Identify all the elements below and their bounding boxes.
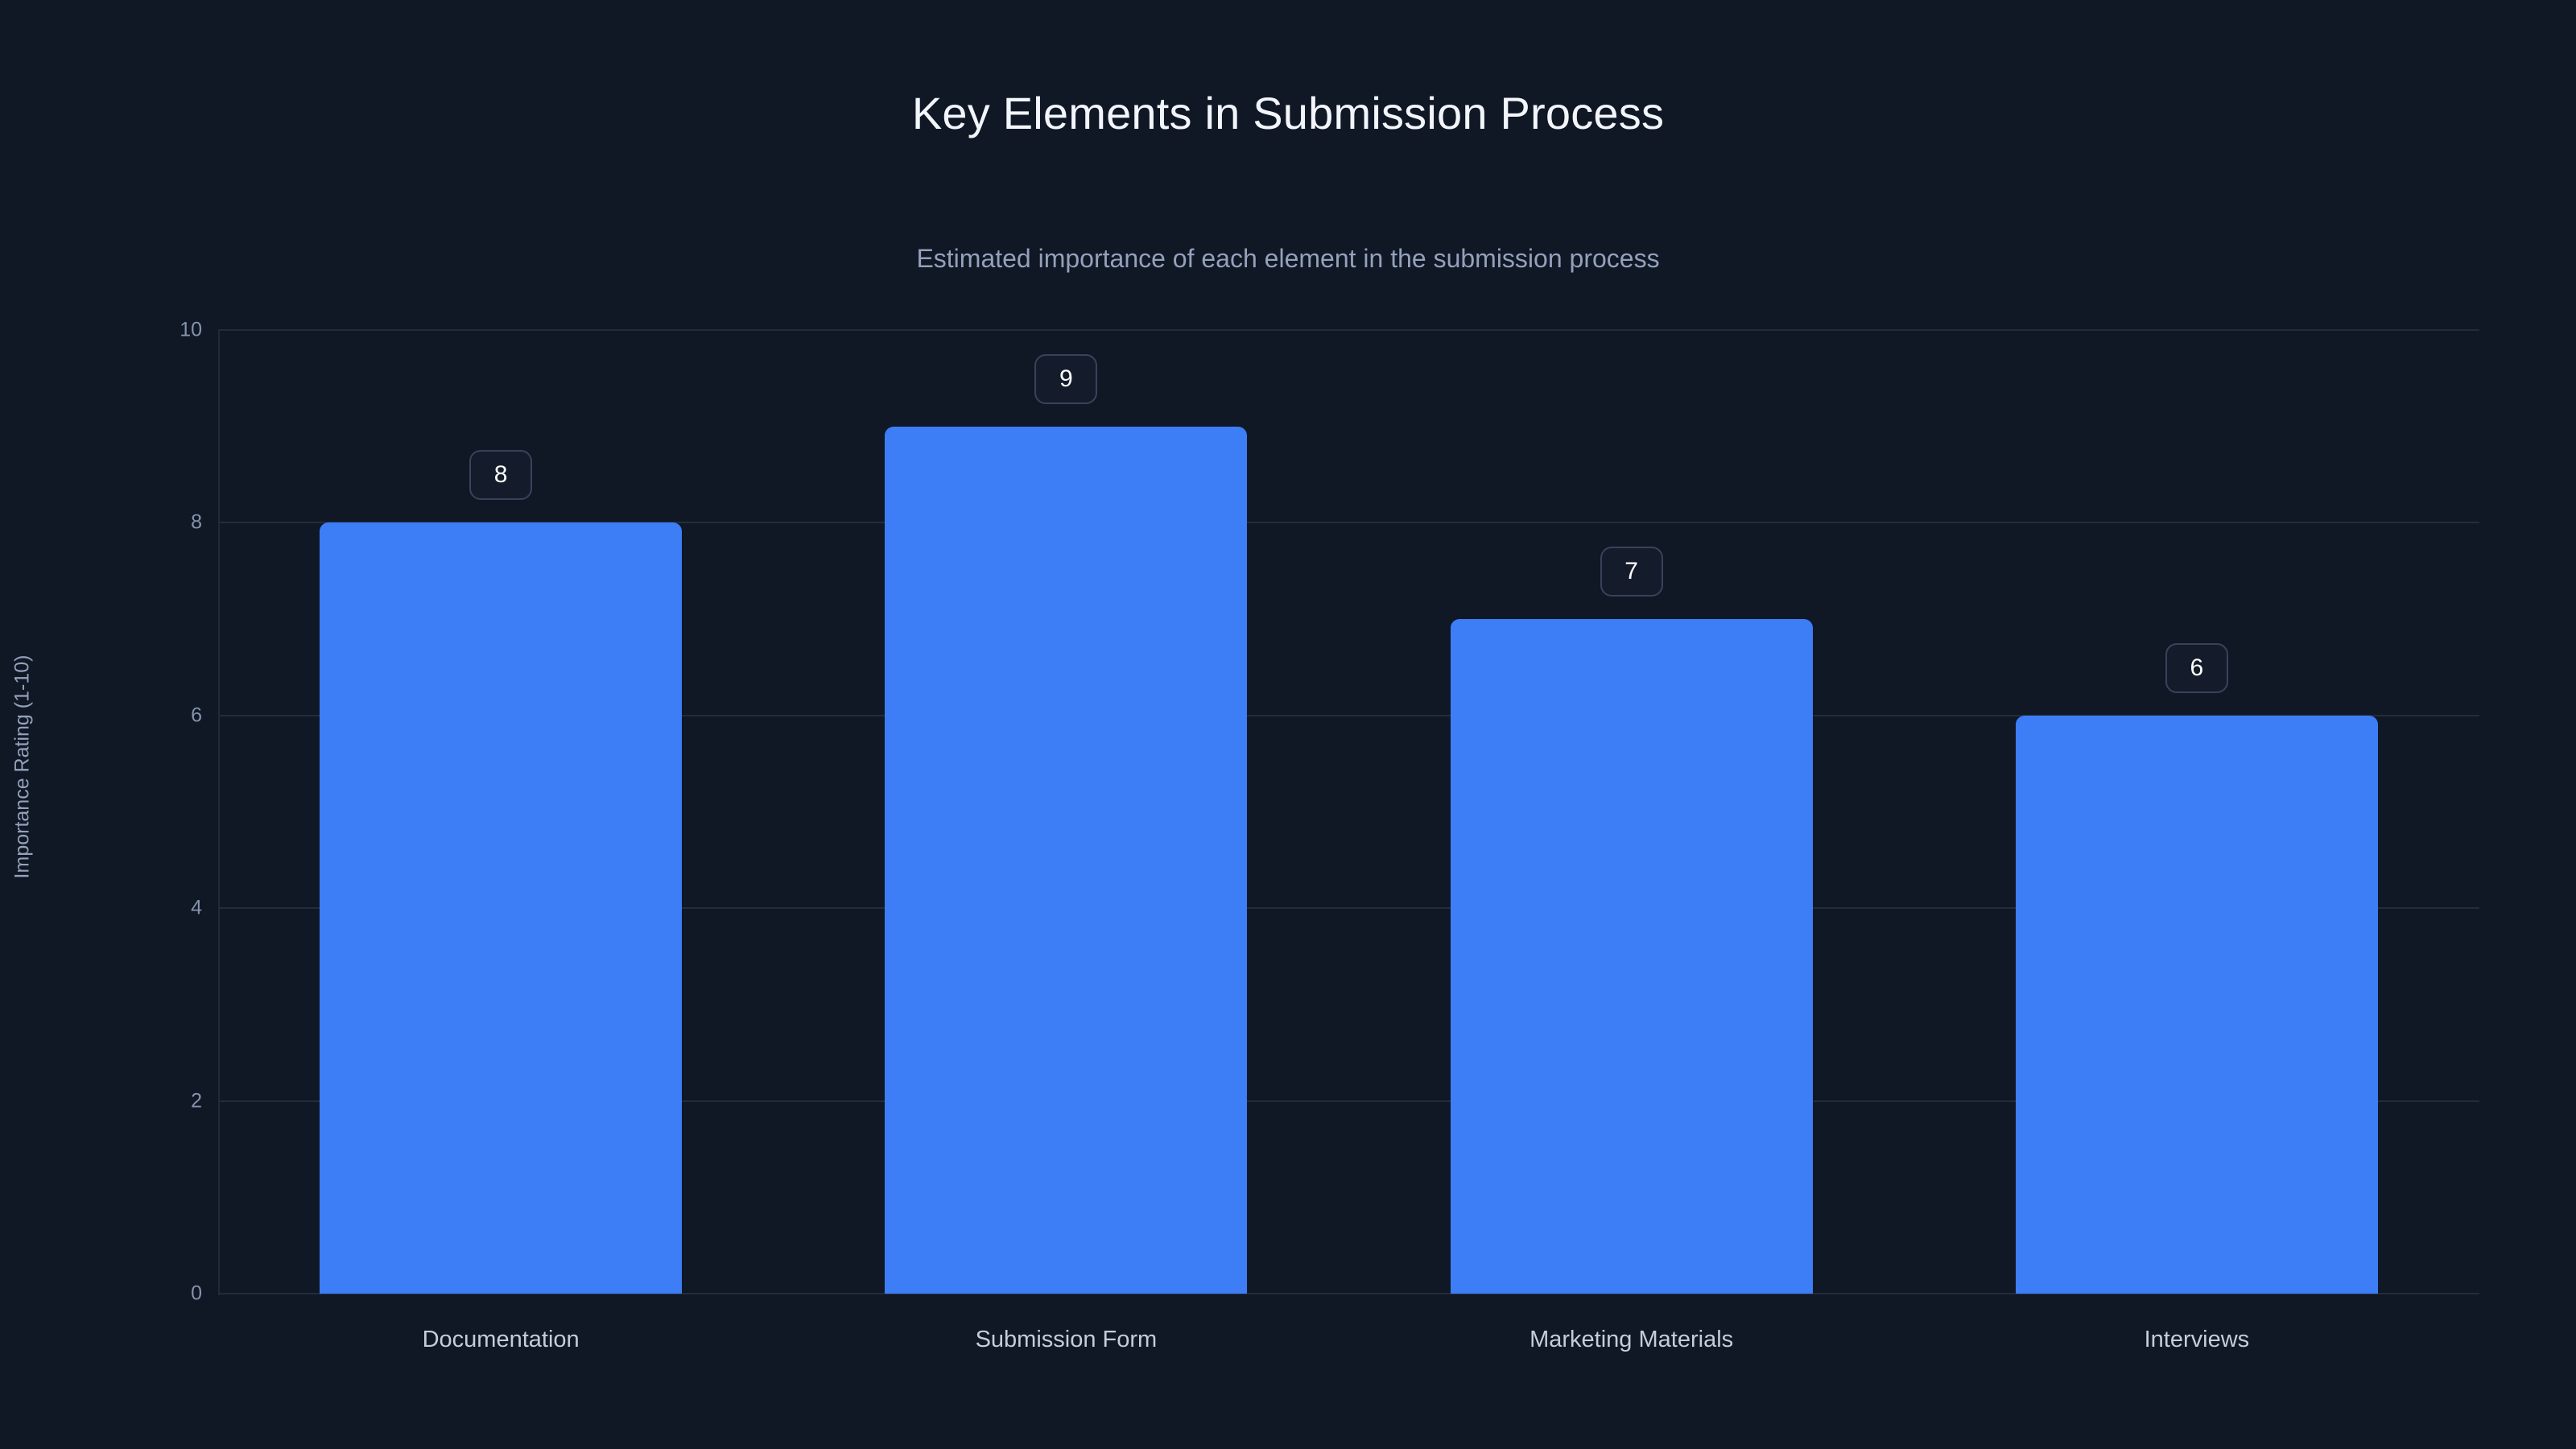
y-axis-ticks: 0246810 [122,330,202,1294]
y-tick-label: 8 [146,513,202,533]
bar[interactable] [885,427,1247,1294]
chart-subtitle: Estimated importance of each element in … [0,245,2576,273]
y-tick-label: 0 [146,1284,202,1304]
y-tick-label: 10 [146,320,202,341]
y-tick-label: 6 [146,705,202,725]
x-tick-label: Marketing Materials [1529,1328,1733,1352]
bar-value-badge: 9 [1034,354,1097,404]
chart-title: Key Elements in Submission Process [0,89,2576,138]
bar-value-badge: 7 [1600,547,1663,597]
y-tick-label: 4 [146,898,202,919]
x-tick-label: Documentation [423,1328,580,1352]
x-tick-label: Submission Form [976,1328,1158,1352]
bar[interactable] [320,522,682,1294]
y-axis-title: Importance Rating (1-10) [13,558,33,976]
chart-canvas: Key Elements in Submission Process Estim… [0,0,2576,1449]
bar[interactable] [1451,619,1813,1294]
bar-value-badge: 6 [2165,643,2228,693]
y-tick-label: 2 [146,1091,202,1111]
bar-value-badge: 8 [469,450,532,500]
x-tick-label: Interviews [2145,1328,2250,1352]
plot-area [218,330,2479,1294]
gridline [218,329,2479,331]
bar[interactable] [2016,716,2378,1294]
